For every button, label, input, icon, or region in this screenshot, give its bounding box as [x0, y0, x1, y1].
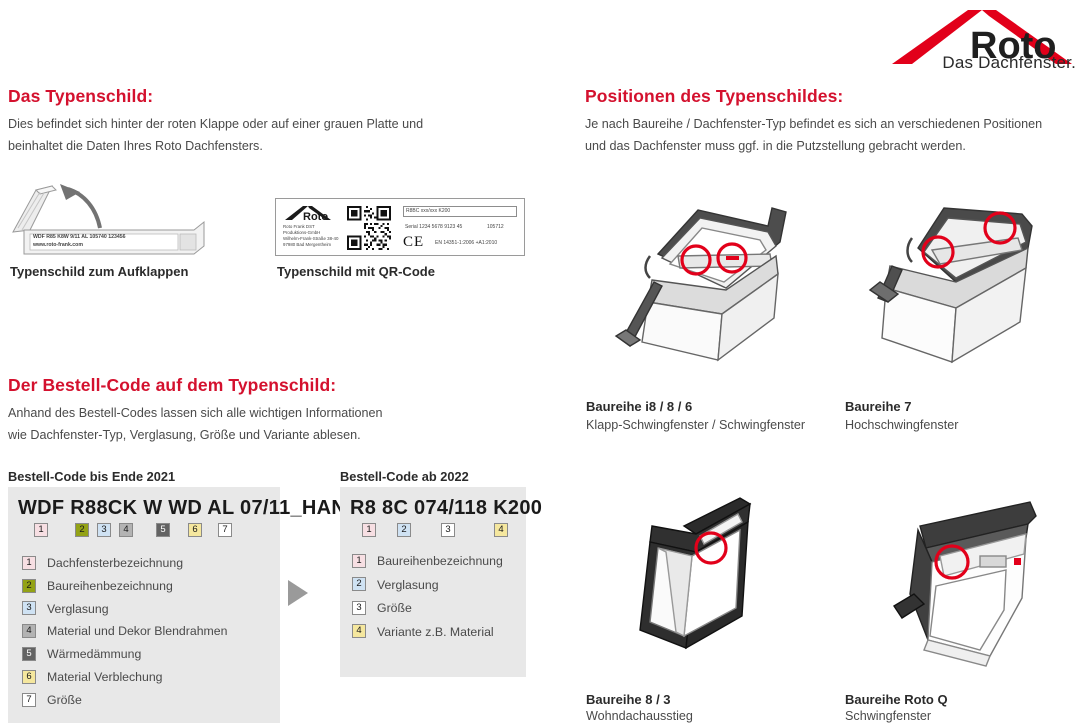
roof-window-illustration-2 — [840, 190, 1040, 380]
photo-title-2: Baureihe 7 — [845, 399, 911, 414]
photo-title-3: Baureihe 8 / 3 — [586, 692, 671, 707]
code-marker-4: 4 — [119, 523, 133, 537]
roof-window-illustration-3 — [600, 490, 800, 680]
photo-baureihe-8-3 — [600, 490, 800, 680]
section-heading-positionen: Positionen des Typenschildes: — [585, 86, 1075, 107]
photo-baureihe-roto-q — [840, 490, 1040, 680]
brand-tagline: Das Dachfenster. — [942, 53, 1076, 73]
transition-arrow-icon — [288, 580, 308, 606]
code-marker-3: 3 — [22, 601, 36, 615]
plate-serial: Serial 1234 5678 9123 45 — [405, 224, 462, 230]
code-marker-5: 5 — [156, 523, 170, 537]
legend-label: Dachfensterbezeichnung — [47, 556, 183, 570]
illustration-row: WDF R85 K8W 9/11 AL 105740 123456 www.ro… — [8, 180, 553, 280]
legend-label: Baureihenbezeichnung — [377, 554, 503, 568]
code-marker-3: 3 — [441, 523, 455, 537]
legend-label: Material Verblechung — [47, 670, 163, 684]
legend-label: Baureihenbezeichnung — [47, 579, 173, 593]
plate-addr-2: Produktions-GmbH — [283, 230, 320, 235]
legend-label: Größe — [47, 693, 82, 707]
legend-item: 2Verglasung — [352, 578, 439, 593]
table-old-markers: 1234567 — [18, 523, 278, 541]
illustration-aufklappen: WDF R85 K8W 9/11 AL 105740 123456 www.ro… — [8, 180, 223, 260]
table-old-code: WDF R88CK W WD AL 07/11_HAN — [18, 497, 346, 520]
legend-label: Material und Dekor Blendrahmen — [47, 624, 227, 638]
code-marker-4: 4 — [352, 624, 366, 638]
legend-item: 4Variante z.B. Material — [352, 625, 494, 640]
photo-subtitle-4: Schwingfenster — [845, 709, 931, 723]
code-marker-1: 1 — [362, 523, 376, 537]
legend-label: Variante z.B. Material — [377, 625, 494, 639]
code-marker-2: 2 — [397, 523, 411, 537]
legend-item: 1Dachfensterbezeichnung — [22, 556, 183, 571]
legend-item: 2Baureihenbezeichnung — [22, 579, 173, 594]
photo-baureihe-i8-8-6 — [600, 190, 800, 380]
code-marker-2: 2 — [352, 577, 366, 591]
section-body-positionen: Je nach Baureihe / Dachfenster-Typ befin… — [585, 114, 1055, 157]
table-new-markers: 1234 — [350, 523, 525, 541]
poster-page: Roto Das Dachfenster. Das Typenschild: D… — [0, 0, 1080, 723]
photo-title-4: Baureihe Roto Q — [845, 692, 948, 707]
legend-item: 3Größe — [352, 601, 412, 616]
left-column: Das Typenschild: Dies befindet sich hint… — [8, 86, 553, 157]
plate-serial-number: 105712 — [487, 224, 504, 230]
code-marker-2: 2 — [22, 579, 36, 593]
code-marker-4: 4 — [494, 523, 508, 537]
table-new-title: Bestell-Code ab 2022 — [340, 469, 469, 484]
legend-item: 1Baureihenbezeichnung — [352, 554, 503, 569]
code-marker-3: 3 — [97, 523, 111, 537]
legend-label: Größe — [377, 601, 412, 615]
photo-subtitle-2: Hochschwingfenster — [845, 418, 958, 432]
legend-item: 5Wärmedämmung — [22, 647, 141, 662]
section-heading-bestellcode: Der Bestell-Code auf dem Typenschild: — [8, 375, 553, 396]
code-marker-3: 3 — [352, 601, 366, 615]
legend-item: 3Verglasung — [22, 602, 109, 617]
caption-qr-plate: Typenschild mit QR-Code — [277, 264, 435, 279]
code-marker-5: 5 — [22, 647, 36, 661]
plate-code-value: R8BC xxx/xxx K200 — [406, 208, 450, 214]
photo-baureihe-7 — [840, 190, 1040, 380]
code-marker-2: 2 — [75, 523, 89, 537]
code-marker-1: 1 — [34, 523, 48, 537]
plate-addr-4: 97980 Bad Mergentheim — [283, 242, 331, 247]
photo-subtitle-3: Wohndachausstieg — [586, 709, 693, 723]
code-marker-6: 6 — [188, 523, 202, 537]
flip-plate-drawing — [8, 180, 223, 260]
photo-subtitle-1: Klapp-Schwingfenster / Schwingfenster — [586, 418, 805, 432]
legend-item: 4Material und Dekor Blendrahmen — [22, 624, 227, 639]
plate-norm: EN 14351-1:2006 +A1:2010 — [435, 240, 497, 246]
table-new-code: R8 8C 074/118 K200 — [350, 497, 542, 520]
code-marker-4: 4 — [22, 624, 36, 638]
code-marker-6: 6 — [22, 670, 36, 684]
code-marker-1: 1 — [22, 556, 36, 570]
legend-label: Wärmedämmung — [47, 647, 141, 661]
table-old-title: Bestell-Code bis Ende 2021 — [8, 469, 175, 484]
roof-window-illustration-4 — [840, 490, 1040, 680]
roof-window-illustration-1 — [600, 190, 800, 380]
svg-text:Roto: Roto — [303, 211, 328, 222]
legend-item: 6Material Verblechung — [22, 670, 163, 685]
code-marker-7: 7 — [22, 693, 36, 707]
mini-roto-logo-icon: Roto — [283, 204, 339, 222]
legend-label: Verglasung — [377, 578, 439, 592]
section-body-typenschild: Dies befindet sich hinter der roten Klap… — [8, 114, 438, 157]
illustration-qr-plate: Roto Roto Frank DST Produktions-GmbH Wil… — [275, 198, 530, 258]
caption-aufklappen: Typenschild zum Aufklappen — [10, 264, 188, 279]
plate-addr-1: Roto Frank DST — [283, 224, 315, 229]
plate-url-line2: www.roto-frank.com — [33, 242, 83, 248]
code-marker-7: 7 — [218, 523, 232, 537]
code-marker-1: 1 — [352, 554, 366, 568]
qr-code-icon — [347, 206, 391, 250]
legend-item: 7Größe — [22, 693, 82, 708]
photo-title-1: Baureihe i8 / 8 / 6 — [586, 399, 692, 414]
right-column: Positionen des Typenschildes: Je nach Ba… — [585, 86, 1075, 157]
section-body-bestellcode: Anhand des Bestell-Codes lassen sich all… — [8, 403, 403, 446]
legend-label: Verglasung — [47, 602, 109, 616]
section-bestellcode: Der Bestell-Code auf dem Typenschild: An… — [8, 375, 553, 446]
section-heading-typenschild: Das Typenschild: — [8, 86, 553, 107]
plate-code-line1: WDF R85 K8W 9/11 AL 105740 123456 — [33, 234, 126, 240]
plate-addr-3: Wilhelm-Frank-Straße 38-40 — [283, 236, 338, 241]
ce-mark-icon: CE — [403, 234, 424, 251]
